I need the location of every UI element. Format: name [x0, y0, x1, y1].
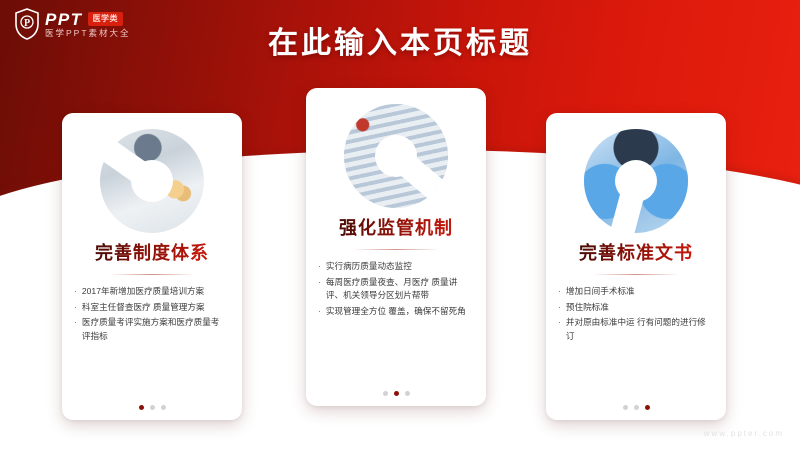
surgery-equipment-ring-photo	[584, 129, 688, 233]
bullet-text: 每周医疗质量夜查、月医疗 质量讲评、机关领导分区划片帮带	[326, 276, 474, 304]
slide-canvas: P PPT 医学类 医学PPT素材大全 在此输入本页标题 完善制度体系 ·	[0, 0, 800, 450]
content-card-1[interactable]: 完善制度体系 · 2017年新增加医疗质量培训方案 · 科室主任督查医疗 质量管…	[62, 113, 242, 420]
card-pagination-3[interactable]	[623, 399, 650, 410]
bullet-item: · 每周医疗质量夜查、月医疗 质量讲评、机关领导分区划片帮带	[318, 276, 474, 304]
bullet-text: 2017年新增加医疗质量培训方案	[82, 285, 230, 299]
bullet-item: · 并对原由标准中运 行有问题的进行修订	[558, 316, 714, 344]
pagination-dot[interactable]	[634, 405, 639, 410]
bullet-item: · 增加日间手术标准	[558, 285, 714, 299]
bullet-text: 实现管理全方位 覆盖，确保不留死角	[326, 305, 474, 319]
pagination-dot[interactable]	[383, 391, 388, 396]
bullet-marker-icon: ·	[558, 285, 561, 299]
card-bullets-2: · 实行病历质量动态监控 · 每周医疗质量夜查、月医疗 质量讲评、机关领导分区划…	[318, 260, 474, 385]
pagination-dot[interactable]	[150, 405, 155, 410]
bullet-item: · 医疗质量考评实施方案和医疗质量考 评指标	[74, 316, 230, 344]
bullet-text: 增加日间手术标准	[566, 285, 714, 299]
pagination-dot[interactable]	[394, 391, 399, 396]
pagination-dot[interactable]	[623, 405, 628, 410]
bullet-text: 并对原由标准中运 行有问题的进行修订	[566, 316, 714, 344]
card-divider	[353, 249, 439, 250]
card-pagination-1[interactable]	[139, 399, 166, 410]
bullet-marker-icon: ·	[318, 260, 321, 274]
bullet-text: 医疗质量考评实施方案和医疗质量考 评指标	[82, 316, 230, 344]
card-title-2: 强化监管机制	[339, 218, 453, 240]
card-divider	[109, 274, 195, 275]
bullet-item: · 科室主任督查医疗 质量管理方案	[74, 301, 230, 315]
pagination-dot[interactable]	[645, 405, 650, 410]
bullet-text: 科室主任督查医疗 质量管理方案	[82, 301, 230, 315]
card-title-1: 完善制度体系	[95, 243, 209, 265]
card-bullets-1: · 2017年新增加医疗质量培训方案 · 科室主任督查医疗 质量管理方案 · 医…	[74, 285, 230, 399]
content-card-3[interactable]: 完善标准文书 · 增加日间手术标准 · 预住院标准 · 并对原由标准中运 行有问…	[546, 113, 726, 420]
bullet-marker-icon: ·	[74, 316, 77, 330]
pagination-dot[interactable]	[139, 405, 144, 410]
bullet-marker-icon: ·	[74, 285, 77, 299]
pagination-dot[interactable]	[161, 405, 166, 410]
content-card-2[interactable]: 强化监管机制 · 实行病历质量动态监控 · 每周医疗质量夜查、月医疗 质量讲评、…	[306, 88, 486, 406]
bullet-marker-icon: ·	[318, 276, 321, 290]
card-divider	[593, 274, 679, 275]
bullet-item: · 2017年新增加医疗质量培训方案	[74, 285, 230, 299]
bullet-item: · 实行病历质量动态监控	[318, 260, 474, 274]
card-pagination-2[interactable]	[383, 385, 410, 396]
bullet-marker-icon: ·	[74, 301, 77, 315]
site-watermark: www.ppter.com	[704, 429, 784, 438]
bullet-item: · 预住院标准	[558, 301, 714, 315]
bullet-marker-icon: ·	[558, 316, 561, 330]
hospital-building-ring-photo	[344, 104, 448, 208]
doctor-ring-photo	[100, 129, 204, 233]
cards-container: 完善制度体系 · 2017年新增加医疗质量培训方案 · 科室主任督查医疗 质量管…	[0, 0, 800, 450]
card-title-3: 完善标准文书	[579, 243, 693, 265]
bullet-marker-icon: ·	[558, 301, 561, 315]
bullet-marker-icon: ·	[318, 305, 321, 319]
pagination-dot[interactable]	[405, 391, 410, 396]
bullet-text: 预住院标准	[566, 301, 714, 315]
bullet-item: · 实现管理全方位 覆盖，确保不留死角	[318, 305, 474, 319]
card-bullets-3: · 增加日间手术标准 · 预住院标准 · 并对原由标准中运 行有问题的进行修订	[558, 285, 714, 399]
bullet-text: 实行病历质量动态监控	[326, 260, 474, 274]
